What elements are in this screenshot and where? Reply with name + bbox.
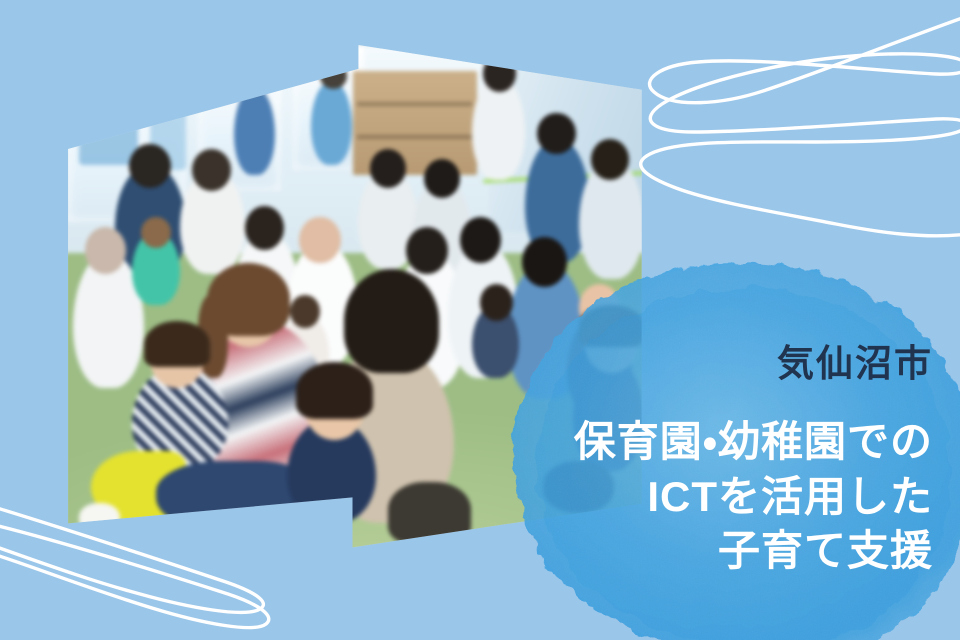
photo-foreground-child-2-hair <box>296 362 373 419</box>
headline: 保育園・幼稚園での ICTを活用した 子育て支援 <box>373 415 933 579</box>
city-label: 気仙沼市 <box>777 345 933 382</box>
photo-shelf-line <box>357 102 472 106</box>
photo-person-head <box>192 149 231 191</box>
photo-person-head <box>129 144 171 188</box>
headline-line-1: 保育園・幼稚園での <box>373 415 933 470</box>
photo-person-head <box>591 139 630 181</box>
photo-person <box>472 76 526 180</box>
photo-person <box>311 81 353 164</box>
photo-foreground-child-hair <box>144 321 209 368</box>
photo-person-head <box>370 149 406 188</box>
headline-line-3: 子育て支援 <box>373 524 933 579</box>
banner-canvas: 気仙沼市 保育園・幼稚園での ICTを活用した 子育て支援 <box>0 0 960 640</box>
photo-foreground-adult-2-hair <box>344 269 439 373</box>
photo-person-head <box>424 159 460 198</box>
photo-person-head <box>85 227 127 274</box>
photo-person-head <box>537 113 576 155</box>
photo-shelf-line <box>357 135 472 139</box>
photo-child-head <box>290 295 320 329</box>
photo-person-head <box>299 217 341 264</box>
headline-line-2: ICTを活用した <box>373 470 933 525</box>
photo-child-head <box>141 217 171 248</box>
photo-person-head <box>406 227 448 274</box>
